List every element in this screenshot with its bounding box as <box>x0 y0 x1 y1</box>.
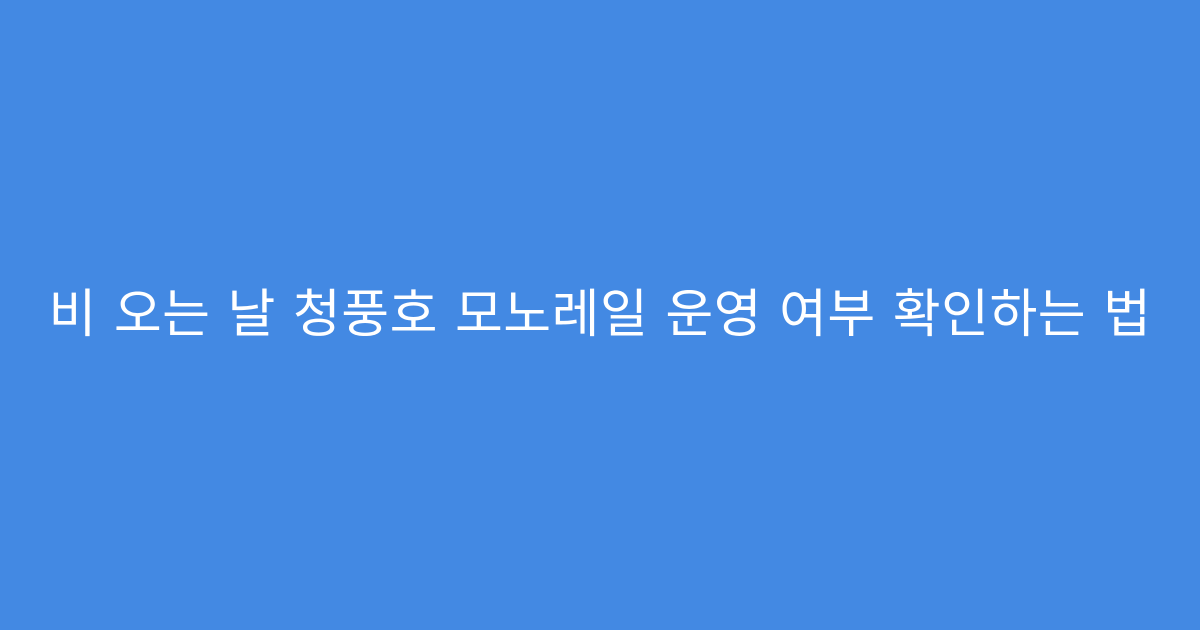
title-block: 비 오는 날 청풍호 모노레일 운영 여부 확인하는 법 <box>0 280 1200 350</box>
thumbnail-card: 비 오는 날 청풍호 모노레일 운영 여부 확인하는 법 <box>0 0 1200 630</box>
page-title: 비 오는 날 청풍호 모노레일 운영 여부 확인하는 법 <box>48 280 1151 350</box>
